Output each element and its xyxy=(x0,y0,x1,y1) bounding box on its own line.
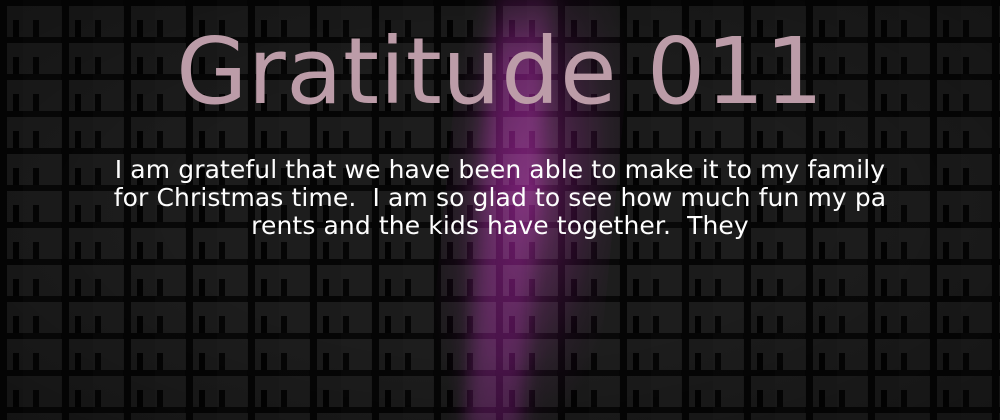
page-title: Gratitude 011 xyxy=(0,0,1000,118)
gratitude-body-text: I am grateful that we have been able to … xyxy=(60,118,940,240)
body-line-3: rents and the kids have together. They xyxy=(60,212,940,240)
body-line-2: for Christmas time. I am so glad to see … xyxy=(60,184,940,212)
slide-content: Gratitude 011 I am grateful that we have… xyxy=(0,0,1000,420)
gratitude-slide: Gratitude 011 I am grateful that we have… xyxy=(0,0,1000,420)
body-line-1: I am grateful that we have been able to … xyxy=(60,156,940,184)
